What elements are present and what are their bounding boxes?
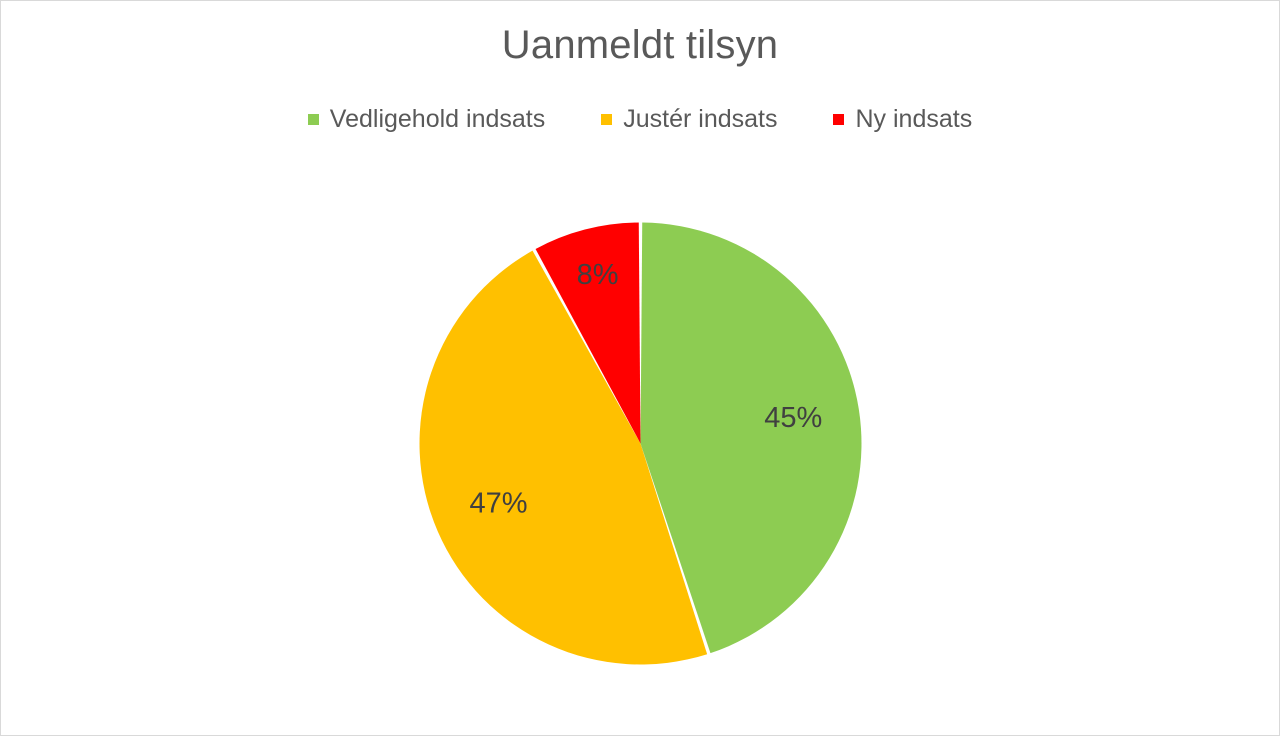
pie-chart-svg: 45%47%8% (1, 1, 1280, 737)
pie-slice-value-label: 47% (469, 488, 527, 520)
chart-frame: Uanmeldt tilsyn Vedligehold indsats Just… (0, 0, 1280, 736)
pie-slice-group (420, 223, 862, 665)
pie-slice-value-label: 45% (764, 402, 822, 434)
pie-chart-area: 45%47%8% (1, 1, 1280, 737)
pie-slice-value-label: 8% (577, 259, 619, 291)
